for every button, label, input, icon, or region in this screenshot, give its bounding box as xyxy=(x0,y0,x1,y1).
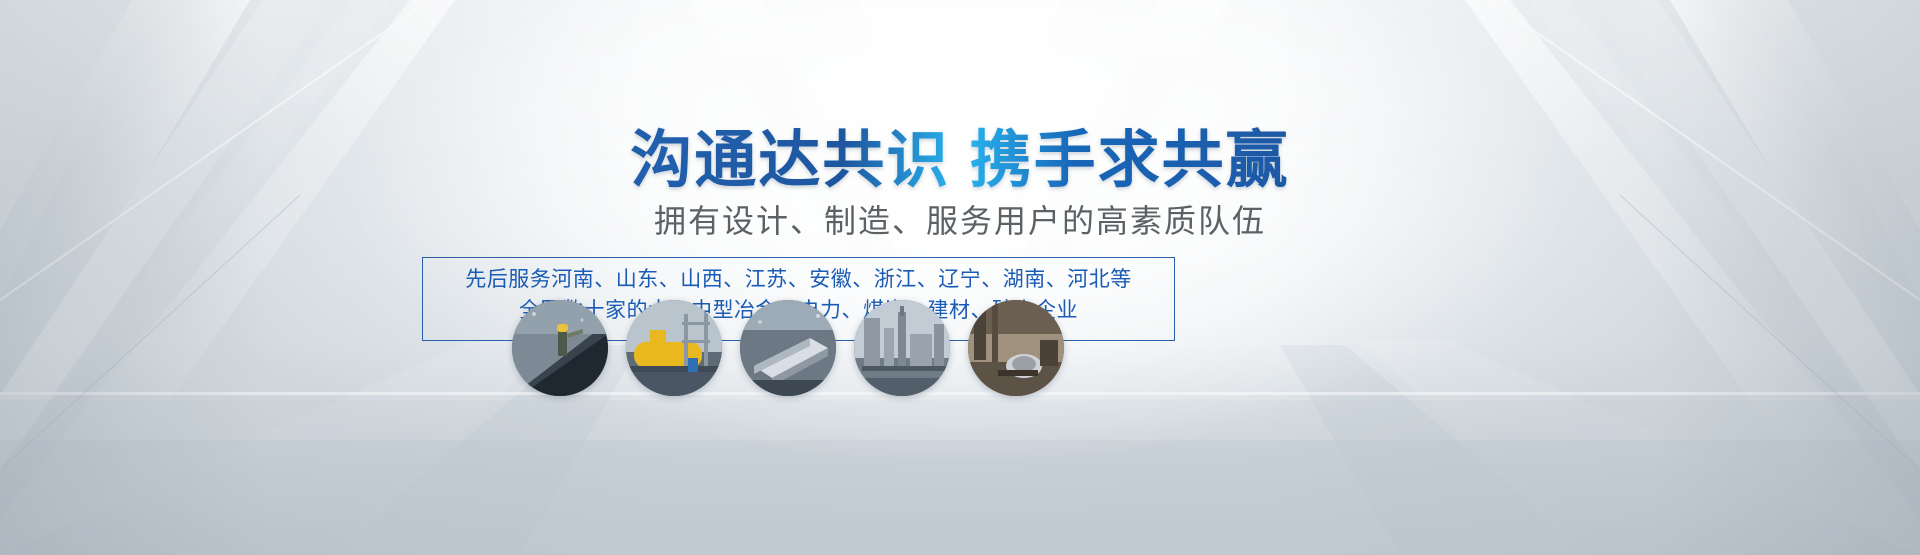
photo-steel-plate-worker xyxy=(512,300,608,396)
photo-machinery-install xyxy=(968,300,1064,396)
photo-panel-stack xyxy=(740,300,836,396)
banner-subtitle: 拥有设计、制造、服务用户的高素质队伍 xyxy=(0,200,1920,242)
project-photo-strip xyxy=(512,300,1064,400)
photo-industrial-plant xyxy=(854,300,950,396)
banner-headline: 沟通达共识 携手求共赢 xyxy=(0,126,1920,196)
promo-banner: 沟通达共识 携手求共赢 拥有设计、制造、服务用户的高素质队伍 先后服务河南、山东… xyxy=(0,0,1920,555)
service-info-line-1: 先后服务河南、山东、山西、江苏、安徽、浙江、辽宁、湖南、河北等 xyxy=(422,264,1175,295)
photo-yellow-tank-crane xyxy=(626,300,722,396)
